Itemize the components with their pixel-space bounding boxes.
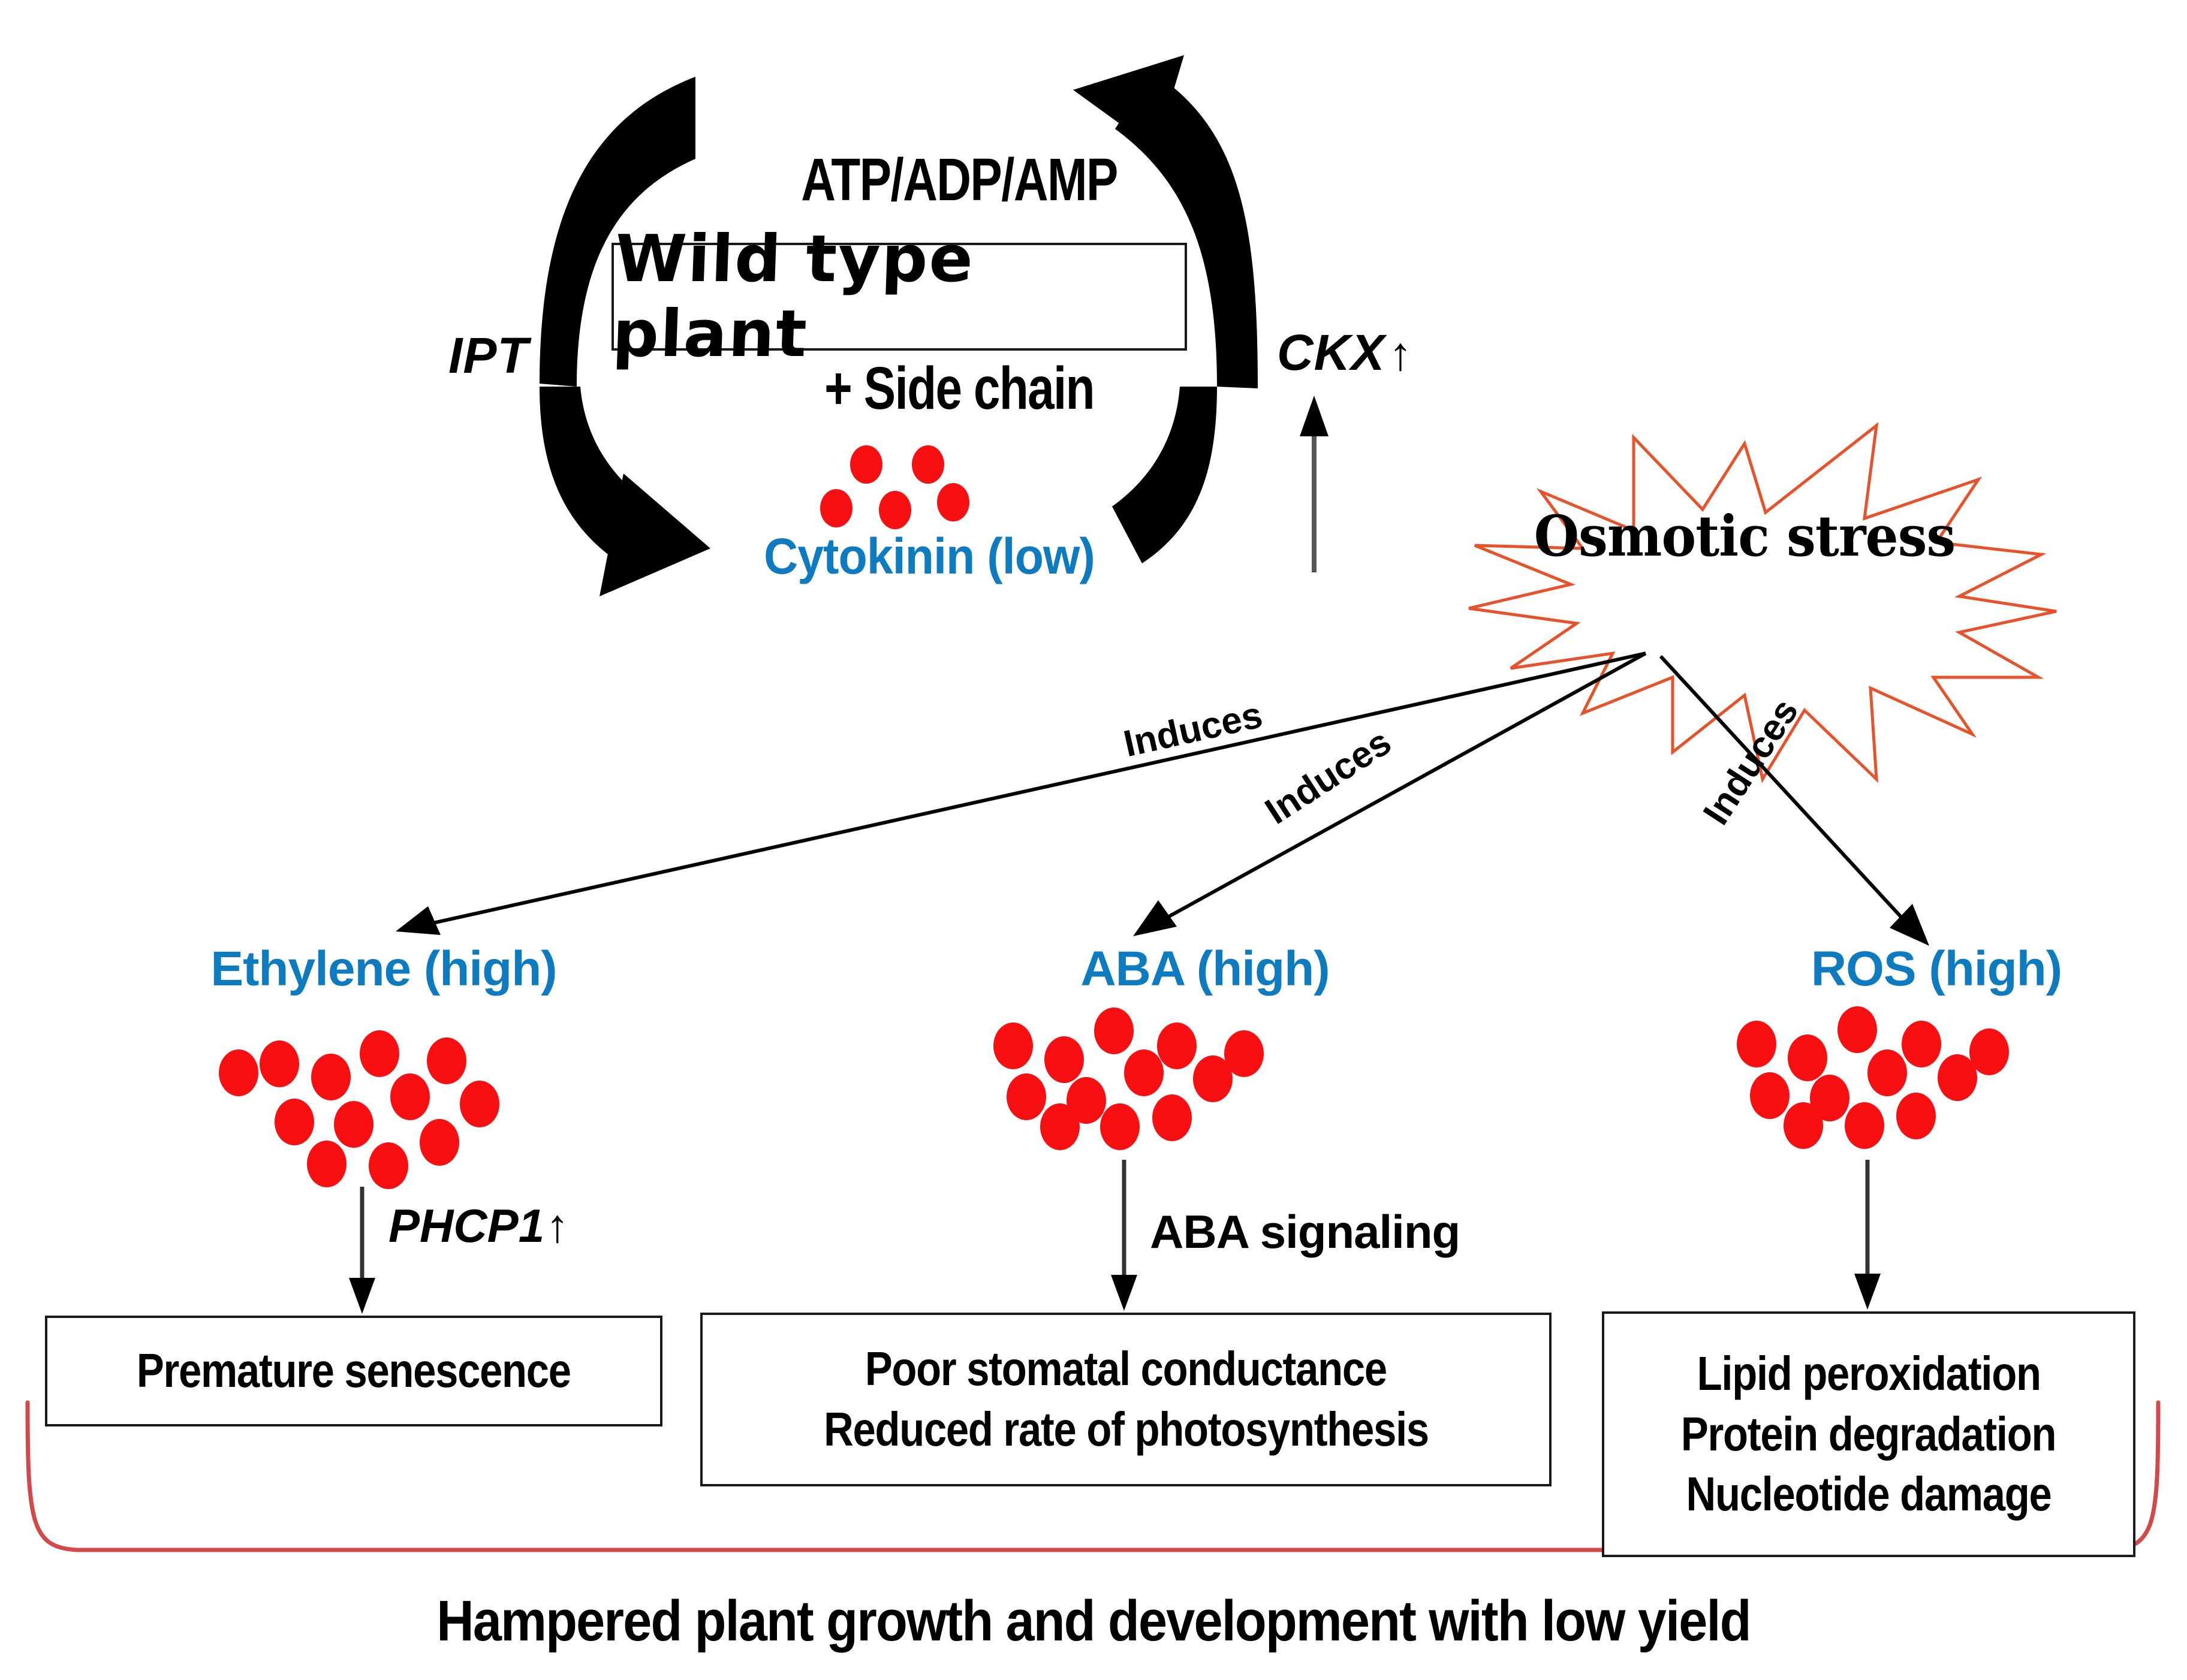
ros-dot-cluster bbox=[1737, 1006, 2009, 1149]
outcome-line: Poor stomatal conductance bbox=[865, 1339, 1387, 1400]
outcome-line: Lipid peroxidation bbox=[1697, 1344, 2040, 1404]
outcome-line: Protein degradation bbox=[1681, 1404, 2056, 1465]
diagram-canvas: ATP/ADP/AMP + Side chain Wild type plant… bbox=[0, 0, 2187, 1680]
outcome-box-stomatal: Poor stomatal conductance Reduced rate o… bbox=[700, 1313, 1552, 1486]
outcome-box-ros-damage: Lipid peroxidation Protein degradation N… bbox=[1602, 1311, 2135, 1557]
induces-label-aba: Induces bbox=[1258, 720, 1399, 833]
ckx-enzyme-text: CKX bbox=[1277, 324, 1385, 382]
aba-label: ABA (high) bbox=[965, 941, 1445, 997]
osmotic-stress-label: Osmotic stress bbox=[1474, 503, 2015, 569]
aba-to-stomata-arrow bbox=[1111, 1160, 1137, 1311]
ipt-enzyme-label: IPT bbox=[448, 327, 529, 385]
phcp1-up-arrow-icon: ↑ bbox=[546, 1202, 569, 1249]
cycle-substrate-line1: ATP/ADP/AMP bbox=[758, 145, 1161, 215]
ros-label: ROS (high) bbox=[1697, 941, 2176, 997]
ethylene-label: Ethylene (high) bbox=[144, 941, 623, 997]
aba-signaling-label: ABA signaling bbox=[1150, 1205, 1460, 1259]
outcome-box-senescence: Premature senescence bbox=[45, 1316, 662, 1426]
induces-arrow-ethylene bbox=[396, 653, 1646, 935]
summary-caption: Hampered plant growth and development wi… bbox=[109, 1588, 2077, 1654]
ethylene-dot-cluster bbox=[219, 1030, 499, 1189]
induces-label-ros: Induces bbox=[1695, 692, 1807, 833]
ckx-enzyme-label: CKX ↑ bbox=[1277, 324, 1412, 382]
phcp1-gene-text: PHCP1 bbox=[388, 1199, 544, 1253]
ros-to-damage-arrow bbox=[1854, 1160, 1881, 1310]
induces-arrow-aba bbox=[1133, 653, 1646, 936]
wild-type-plant-label: Wild type plant bbox=[611, 222, 1188, 372]
induces-label-ethylene: Induces bbox=[1120, 693, 1266, 765]
cytokinin-label: Cytokinin (low) bbox=[704, 527, 1155, 586]
ckx-upregulation-arrow bbox=[1300, 396, 1329, 572]
wild-type-plant-box: Wild type plant bbox=[611, 243, 1187, 351]
outcome-line: Premature senescence bbox=[137, 1341, 571, 1401]
outcome-line: Reduced rate of photosynthesis bbox=[824, 1400, 1429, 1460]
phcp1-gene-label: PHCP1 ↑ bbox=[388, 1199, 569, 1253]
outcome-line: Nucleotide damage bbox=[1686, 1464, 2052, 1525]
ckx-up-arrow-icon: ↑ bbox=[1388, 330, 1412, 377]
aba-dot-cluster bbox=[993, 1008, 1264, 1150]
ethylene-to-senescence-arrow bbox=[349, 1187, 375, 1314]
